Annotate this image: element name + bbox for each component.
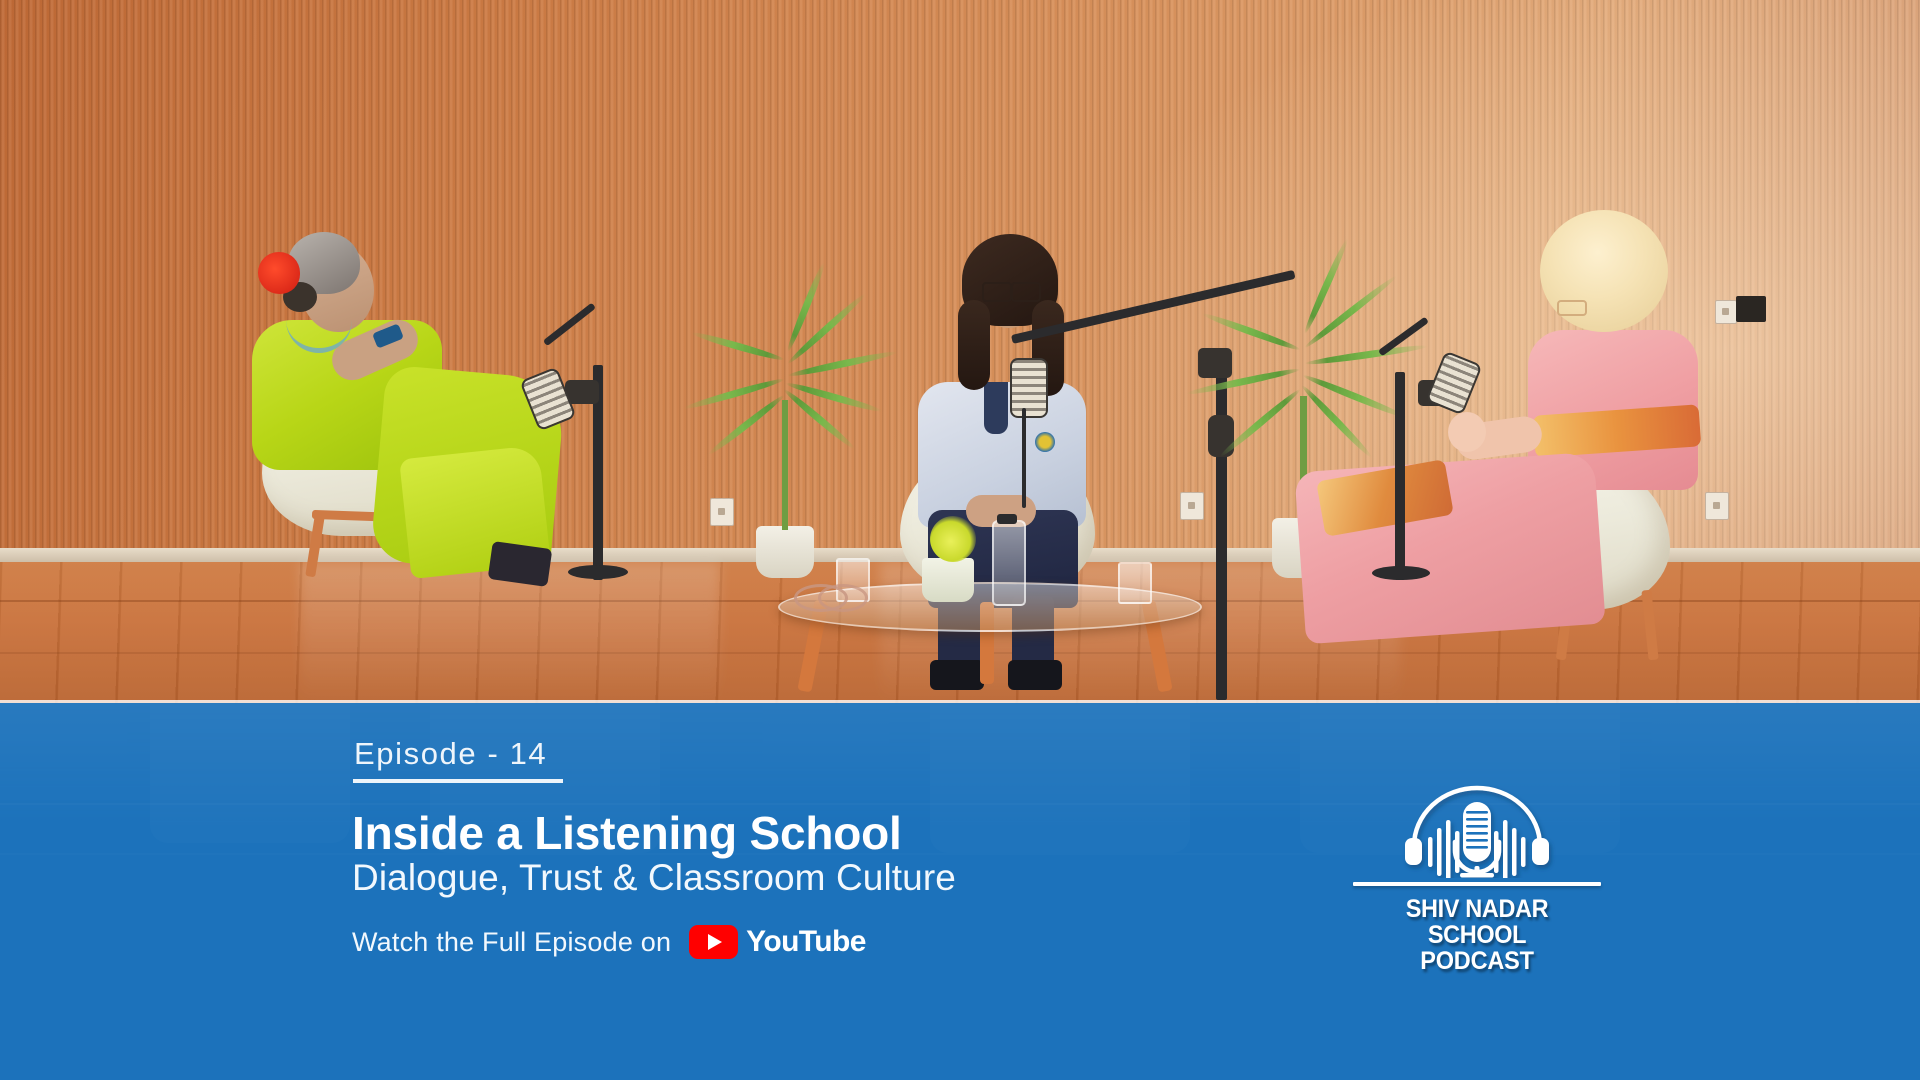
tabletop-plant-pot <box>922 558 974 602</box>
wall-socket <box>1715 300 1737 324</box>
logo-divider-line <box>1353 882 1601 886</box>
tabletop-plant-foliage <box>930 516 976 562</box>
participant-left-feet <box>488 541 553 587</box>
participant-center-shoe <box>930 660 984 690</box>
ghost-seam-line <box>0 803 1920 805</box>
participant-center-hair-strand <box>958 300 990 390</box>
water-bottle <box>992 520 1026 606</box>
podcast-brand-logo: SHIV NADAR SCHOOL PODCAST <box>1352 778 1602 974</box>
episode-info-panel <box>0 703 1920 1080</box>
episode-number-label: Episode - 14 <box>354 736 547 772</box>
watch-cta-text: Watch the Full Episode on <box>352 927 671 958</box>
mic-boom-joint <box>1198 348 1232 378</box>
microphone-head <box>1010 358 1048 418</box>
episode-label-underline <box>353 779 563 783</box>
floor-reflection <box>300 562 720 703</box>
brand-line-1: SHIV NADAR SCHOOL <box>1360 896 1595 948</box>
youtube-play-icon[interactable] <box>689 925 738 959</box>
brand-line-2: PODCAST <box>1360 948 1595 974</box>
wall-socket <box>1180 492 1204 520</box>
mic-base <box>568 565 628 579</box>
school-crest-logo <box>1035 432 1055 452</box>
youtube-logo[interactable]: YouTube <box>689 925 866 959</box>
bottle-cap <box>997 514 1017 524</box>
flower-hair-accessory <box>258 252 300 294</box>
podcast-episode-thumbnail: Episode - 14 Inside a Listening School D… <box>0 0 1920 1080</box>
plant-stem <box>782 400 788 530</box>
wall-socket <box>1705 492 1729 520</box>
plant-pot <box>756 526 814 578</box>
episode-subtitle: Dialogue, Trust & Classroom Culture <box>352 857 956 899</box>
youtube-wordmark: YouTube <box>746 925 866 959</box>
eyeglasses-lens <box>1011 282 1041 302</box>
mic-pole <box>1395 372 1405 580</box>
ghost-shape <box>150 703 350 843</box>
eyeglasses-lens <box>1557 300 1587 316</box>
mic-base <box>1372 566 1430 580</box>
shirt-collar <box>984 382 1008 434</box>
panel-photo-bleed <box>0 703 1920 883</box>
ghost-shape <box>930 703 1190 853</box>
participant-center-shoe <box>1008 660 1062 690</box>
participant-right-hand <box>1448 412 1486 452</box>
panel-divider-line <box>0 700 1920 703</box>
eyeglasses-lens <box>982 282 1012 302</box>
wall-socket <box>710 498 734 526</box>
mic-cable <box>1022 408 1026 508</box>
studio-photo <box>0 0 1920 703</box>
watch-cta-row[interactable]: Watch the Full Episode on YouTube <box>352 925 866 959</box>
play-triangle-icon <box>708 934 722 950</box>
eyeglasses-on-table <box>818 584 868 612</box>
ghost-seam-line <box>0 853 1920 855</box>
episode-title: Inside a Listening School <box>352 806 902 860</box>
wall-device-box <box>1736 296 1766 322</box>
podcast-microphone-headphones-icon <box>1352 778 1602 878</box>
drinking-glass <box>1118 562 1152 604</box>
